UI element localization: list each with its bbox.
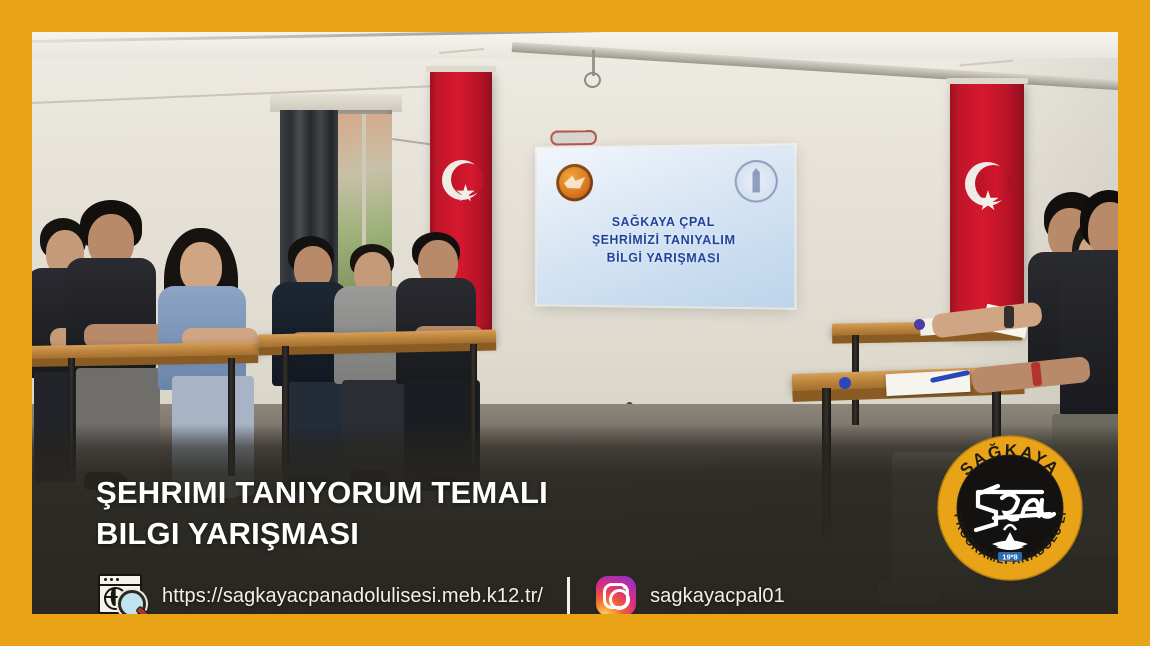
school-logo: SAĞKAYA ÇOK PROGRAMLI ANADOLU LİSESİ (934, 432, 1086, 584)
banner: SAĞKAYA ÇPAL ŞEHRİMİZİ TANIYALIM BİLGİ Y… (0, 0, 1150, 646)
slide-line-3: BİLGİ YARIŞMASI (537, 249, 794, 268)
flag-crescent-inner (975, 165, 1012, 202)
links-row: https://sagkayacpanadolulisesi.meb.k12.t… (96, 574, 736, 614)
slide-text: SAĞKAYA ÇPAL ŞEHRİMİZİ TANIYALIM BİLGİ Y… (537, 213, 794, 269)
screen-mount-tag (550, 130, 596, 145)
headline-line-2: BILGI YARIŞMASI (96, 513, 736, 554)
wire-hook (584, 72, 601, 88)
desk-leg (68, 358, 75, 478)
desk-leg (470, 344, 477, 462)
website-link[interactable]: https://sagkayacpanadolulisesi.meb.k12.t… (96, 574, 543, 614)
shoe (878, 580, 940, 602)
slide-line-2: ŞEHRİMİZİ TANIYALIM (537, 231, 794, 250)
headline-line-1: ŞEHRIMI TANIYORUM TEMALI (96, 472, 736, 513)
web-search-icon (96, 574, 148, 614)
logo-year-text: 19*8 (1002, 553, 1017, 562)
desk-leg (228, 358, 235, 476)
flag-rod (426, 66, 496, 72)
flag-rod (946, 78, 1028, 84)
desk-leg (282, 346, 289, 464)
desk-leg (822, 388, 831, 538)
link-divider (567, 577, 570, 614)
instagram-link[interactable]: sagkayacpal01 (596, 576, 785, 614)
projection-screen: SAĞKAYA ÇPAL ŞEHRİMİZİ TANIYALIM BİLGİ Y… (537, 145, 794, 307)
pen-cap-purple (914, 319, 925, 330)
school-logo-svg: SAĞKAYA ÇOK PROGRAMLI ANADOLU LİSESİ (934, 432, 1086, 584)
event-photo: SAĞKAYA ÇPAL ŞEHRİMİZİ TANIYALIM BİLGİ Y… (32, 32, 1118, 614)
instagram-icon (596, 576, 636, 614)
instagram-handle: sagkayacpal01 (650, 585, 785, 608)
school-emblem-slide (556, 164, 593, 202)
website-url: https://sagkayacpanadolulisesi.meb.k12.t… (162, 585, 543, 608)
slide-line-1: SAĞKAYA ÇPAL (537, 213, 794, 232)
page-title: ŞEHRIMI TANIYORUM TEMALI BILGI YARIŞMASI (96, 472, 736, 554)
watch (1004, 306, 1014, 328)
turkish-flag-right (950, 84, 1024, 336)
student-desk-left-1 (32, 342, 258, 360)
caption-block: ŞEHRIMI TANIYORUM TEMALI BILGI YARIŞMASI… (96, 472, 736, 614)
pen-cap-blue (839, 377, 851, 389)
meb-emblem-slide (735, 160, 778, 203)
